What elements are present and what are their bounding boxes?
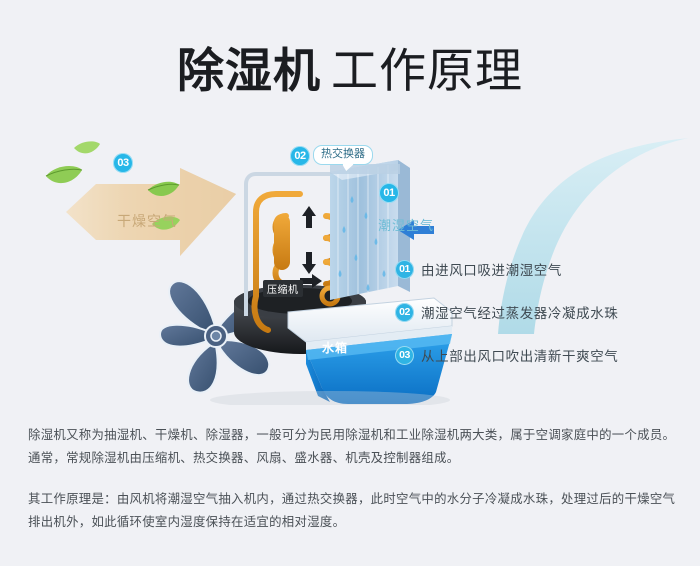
leaf-icon-1 [46, 166, 82, 183]
page-title: 除湿机工作原理 [0, 32, 700, 101]
label-compressor: 压缩机 [263, 280, 303, 297]
legend-item-02: 02 潮湿空气经过蒸发器冷凝成水珠 [395, 301, 685, 323]
legend-badge-01: 01 [395, 260, 414, 279]
label-humid-air: 潮湿空气 [378, 215, 434, 234]
page-title-part2: 工作原理 [331, 44, 523, 97]
legend-badge-03: 03 [395, 346, 414, 365]
callout-heat-exchanger-label: 热交换器 [321, 148, 365, 160]
description-paragraph-2: 其工作原理是：由风机将潮湿空气抽入机内，通过热交换器，此时空气中的水分子冷凝成水… [28, 487, 676, 533]
paragraph-2-line-2: 排出机外，如此循环使室内湿度保持在适宜的相对湿度。 [28, 510, 676, 533]
page-title-part1: 除湿机 [177, 44, 321, 99]
paragraph-1-line-2: 通常，常规除湿机由压缩机、热交换器、风扇、盛水器、机壳及控制器组成。 [28, 446, 676, 469]
legend-text-01: 由进风口吸进潮湿空气 [421, 259, 562, 279]
legend-text-03: 从上部出风口吹出清新干爽空气 [421, 345, 618, 365]
leaf-icon-2 [74, 141, 100, 153]
legend-text-02: 潮湿空气经过蒸发器冷凝成水珠 [421, 302, 618, 322]
legend-item-01: 01 由进风口吸进潮湿空气 [395, 258, 685, 280]
legend-item-03: 03 从上部出风口吹出清新干爽空气 [395, 344, 685, 366]
paragraph-2-line-1: 其工作原理是：由风机将潮湿空气抽入机内，通过热交换器，此时空气中的水分子冷凝成水… [28, 487, 676, 510]
legend-badge-02: 02 [395, 303, 414, 322]
badge-heat-exchanger: 02 [290, 146, 310, 166]
infographic-page: 除湿机工作原理 [0, 0, 700, 566]
badge-dry-air: 03 [113, 153, 133, 173]
description-paragraph-1: 除湿机又称为抽湿机、干燥机、除湿器，一般可分为民用除湿机和工业除湿机两大类，属于… [28, 423, 676, 469]
badge-humid-air: 01 [379, 183, 399, 203]
legend-list: 01 由进风口吸进潮湿空气 02 潮湿空气经过蒸发器冷凝成水珠 03 从上部出风… [395, 258, 685, 387]
compressor-body [274, 214, 290, 270]
callout-heat-exchanger: 热交换器 [313, 145, 373, 165]
label-water-tank: 水箱 [322, 339, 348, 356]
paragraph-1-line-1: 除湿机又称为抽湿机、干燥机、除湿器，一般可分为民用除湿机和工业除湿机两大类，属于… [28, 423, 676, 446]
label-dry-air: 干燥空气 [117, 211, 177, 231]
